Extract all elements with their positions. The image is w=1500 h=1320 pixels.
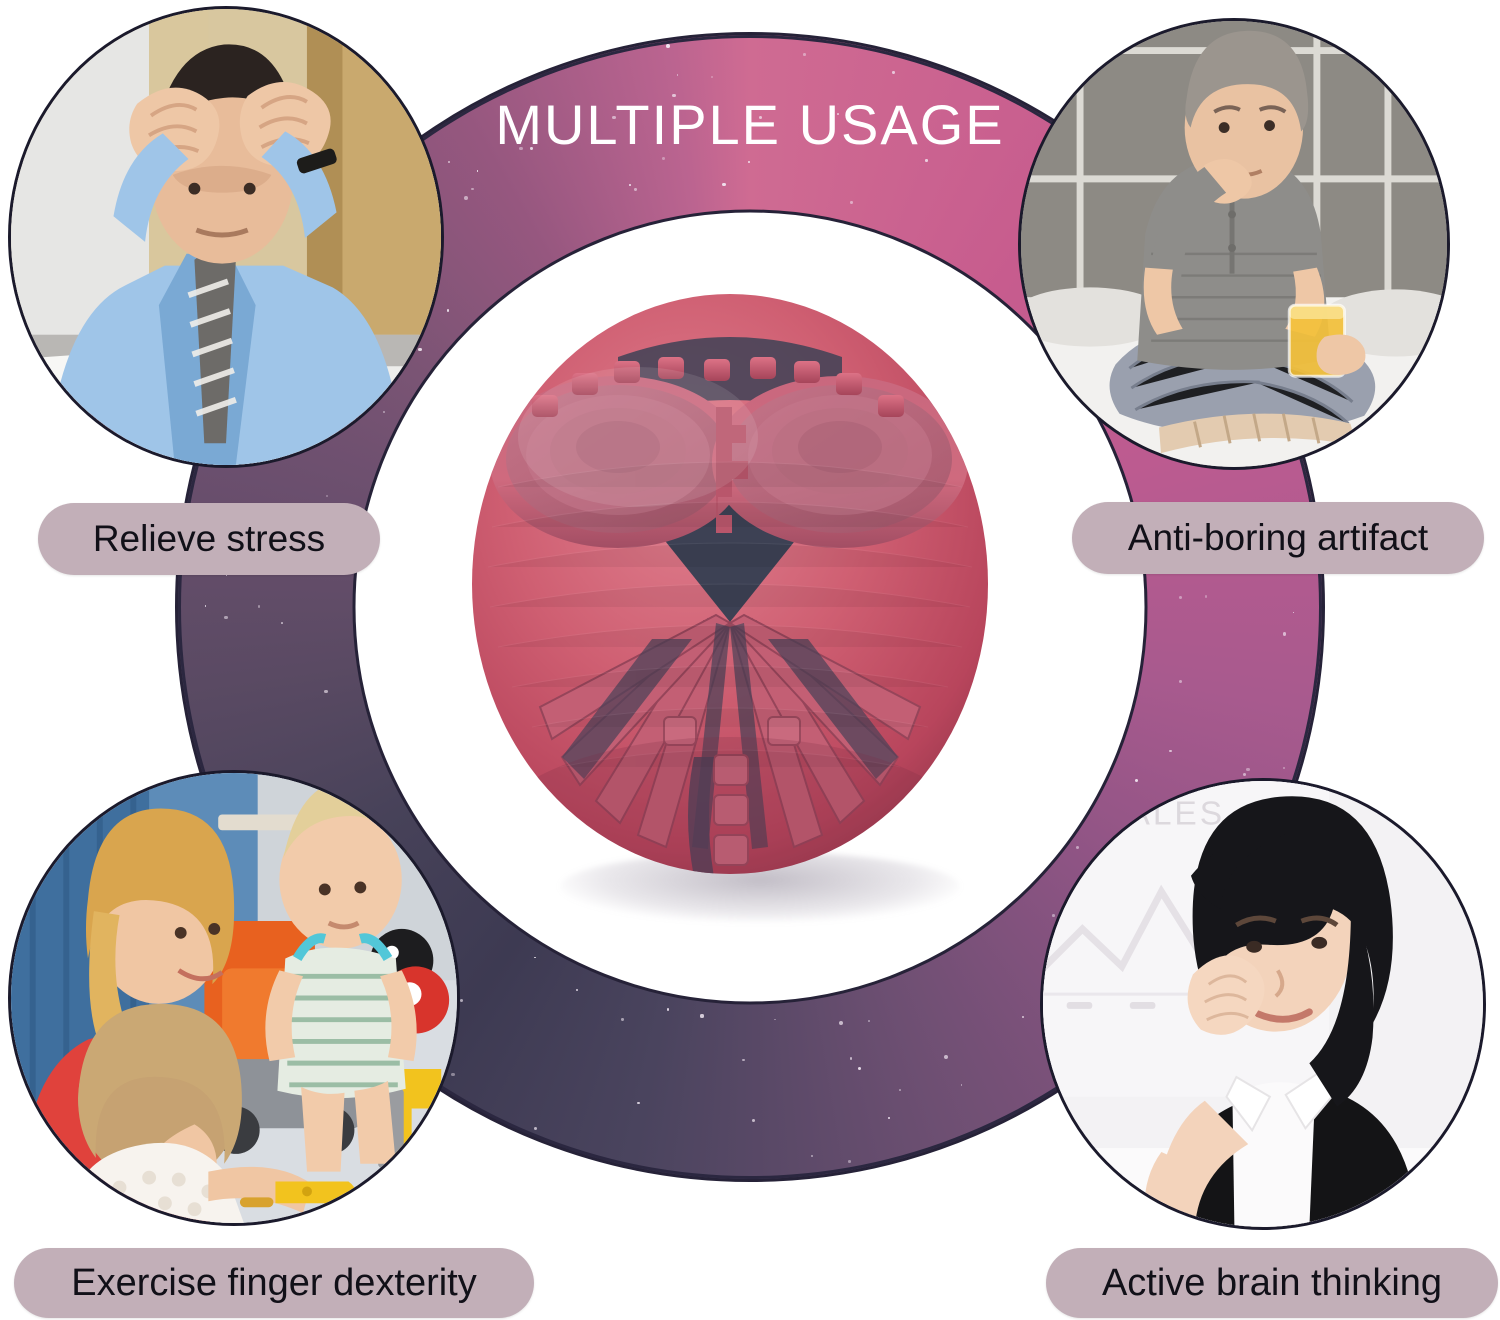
usage-label-relieve-stress: Relieve stress xyxy=(38,503,380,575)
usage-label-exercise-finger-dexterity: Exercise finger dexterity xyxy=(14,1248,534,1318)
product-gear-ball-image xyxy=(468,287,993,877)
photo-active-brain-thinking: SALES xyxy=(1040,778,1486,1230)
usage-label-active-brain-thinking: Active brain thinking xyxy=(1046,1248,1498,1318)
photo-exercise-finger-dexterity xyxy=(8,770,460,1226)
photo-relieve-stress xyxy=(8,6,444,468)
photo-anti-boring-artifact xyxy=(1018,18,1450,470)
usage-label-anti-boring-artifact: Anti-boring artifact xyxy=(1072,502,1484,574)
